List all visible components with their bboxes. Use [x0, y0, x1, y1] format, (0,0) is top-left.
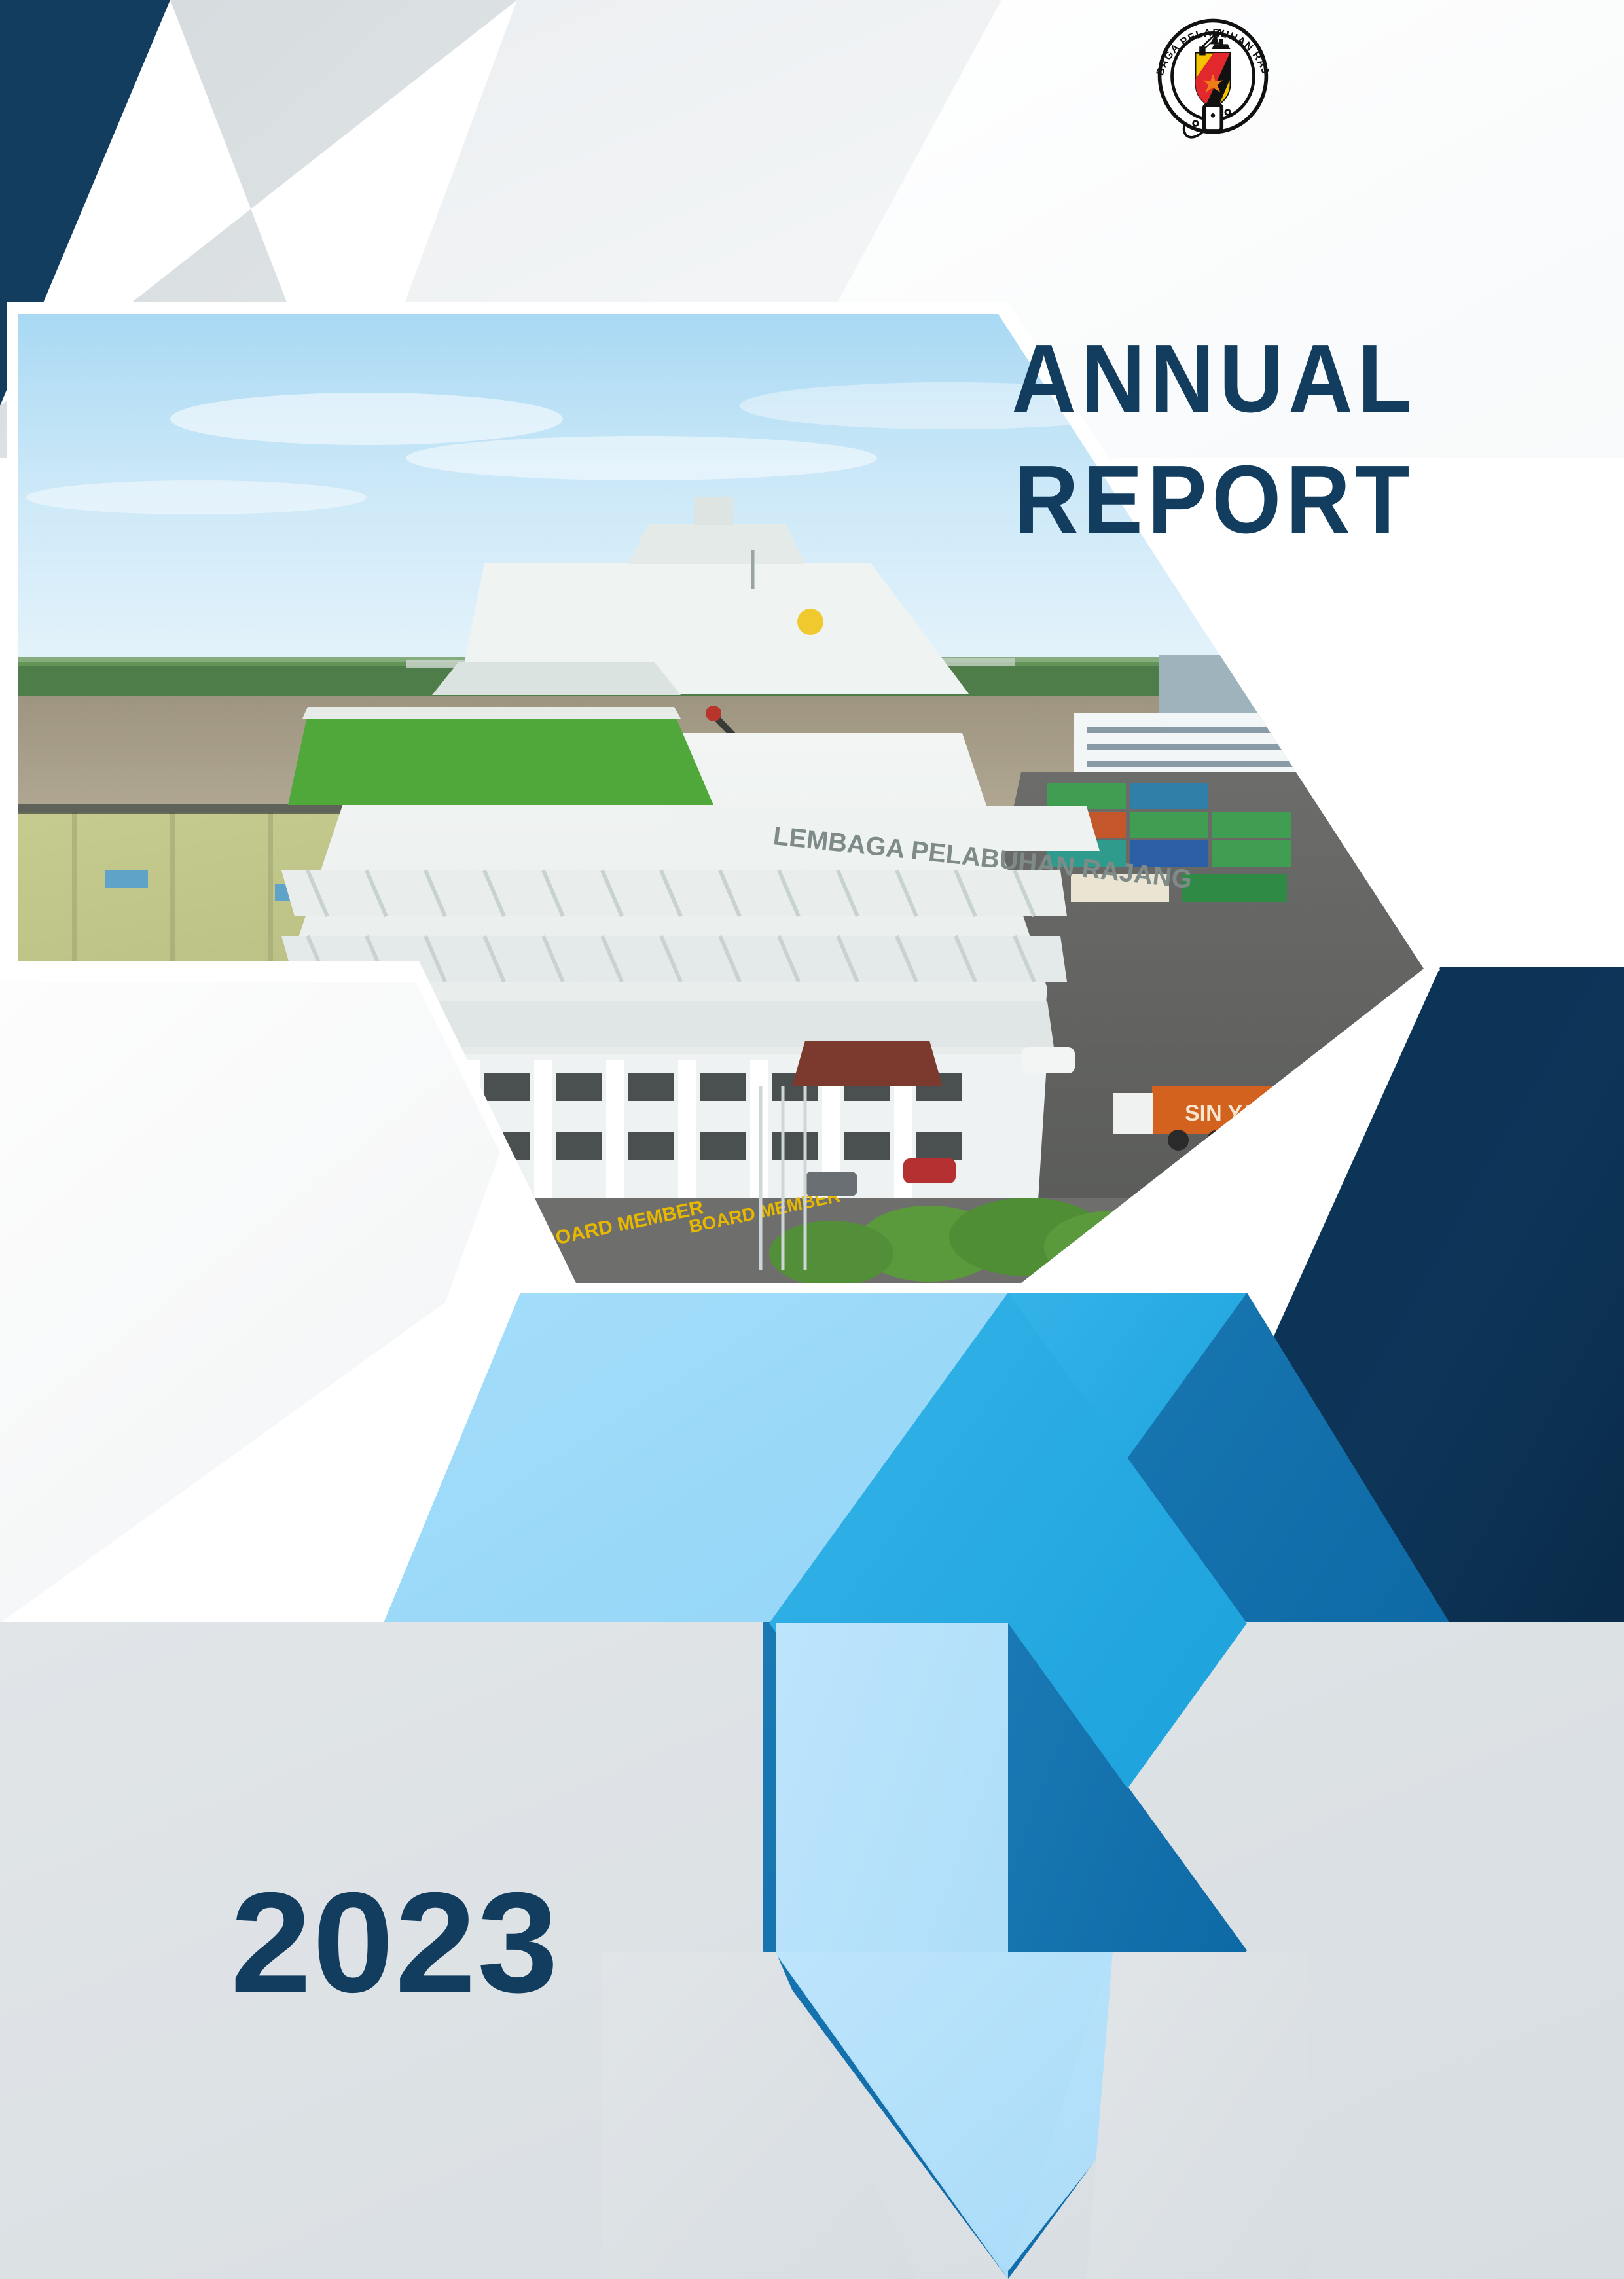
title-line-annual: ANNUAL	[994, 318, 1434, 439]
annual-report-cover-page: LEMBAGA PELABUHAN RAJANG	[0, 0, 1624, 2279]
title-line-report: REPORT	[994, 439, 1434, 560]
cover-title-block: ANNUAL REPORT	[975, 318, 1453, 560]
lembaga-pelabuhan-rajang-logo: LEMBAGA PELABUHAN RAJANG	[1151, 14, 1275, 142]
cover-year: 2023	[230, 1872, 560, 2015]
logo-keyhole-plate	[1204, 105, 1222, 131]
